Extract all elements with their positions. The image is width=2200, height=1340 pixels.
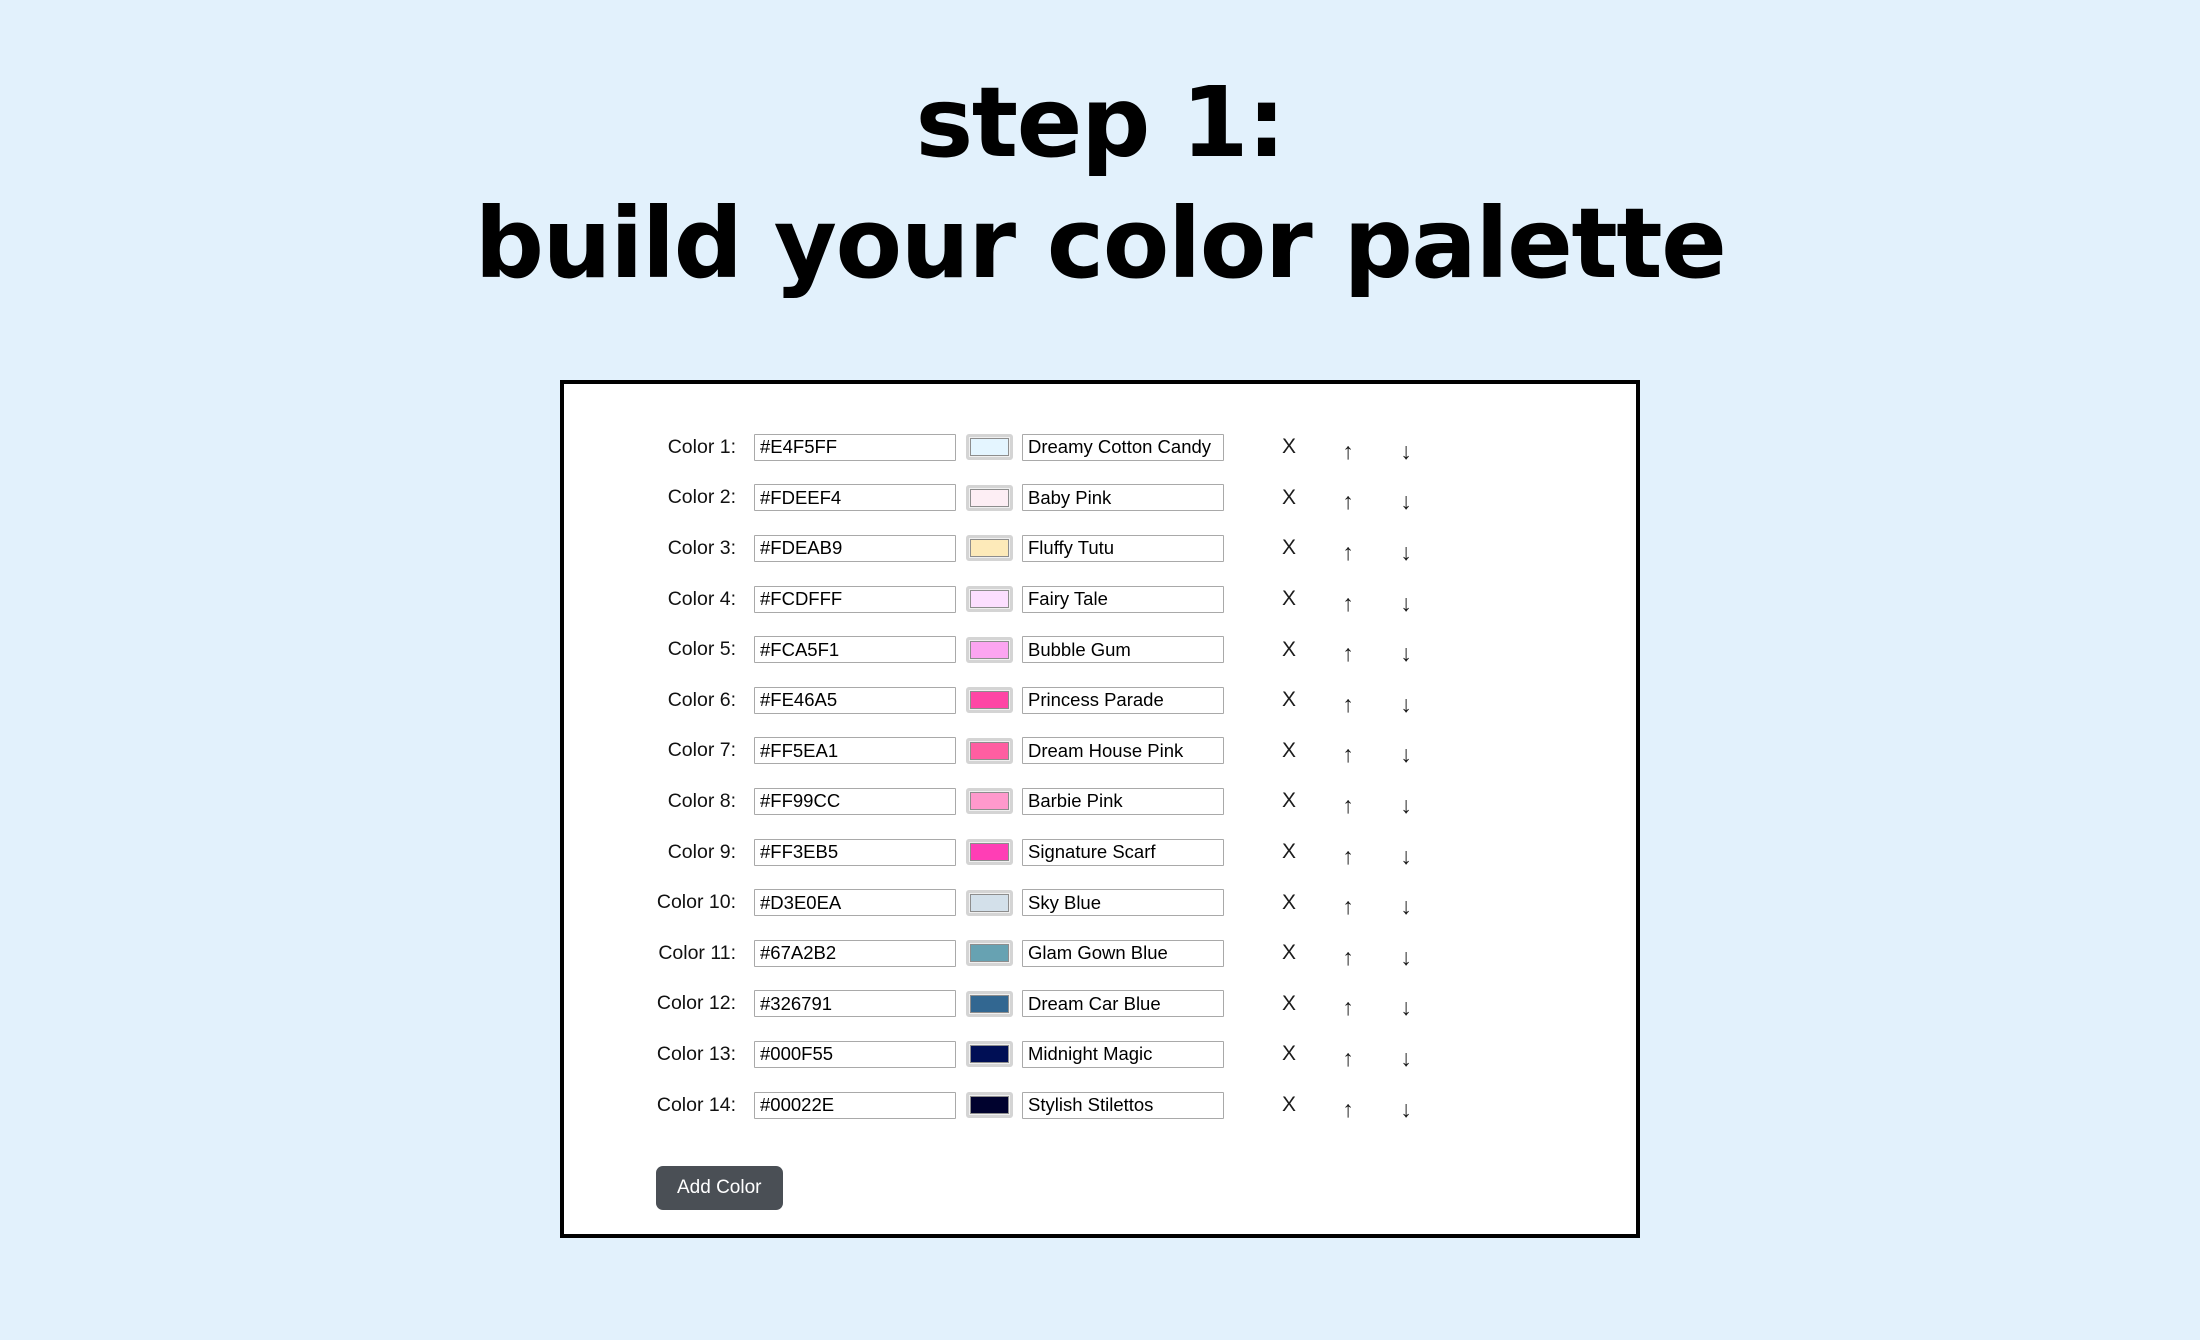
- color-swatch-fill: [970, 691, 1009, 709]
- move-color-down-icon[interactable]: ↓: [1378, 845, 1434, 868]
- move-color-down-icon[interactable]: ↓: [1378, 895, 1434, 918]
- move-color-down-icon[interactable]: ↓: [1378, 642, 1434, 665]
- color-picker-swatch[interactable]: [966, 890, 1013, 916]
- color-picker-swatch[interactable]: [966, 535, 1013, 561]
- move-color-up-icon[interactable]: ↑: [1320, 490, 1376, 513]
- color-name-input[interactable]: [1022, 1092, 1224, 1119]
- color-name-input[interactable]: [1022, 940, 1224, 967]
- color-swatch-slot: [956, 839, 1022, 865]
- delete-color-button[interactable]: X: [1260, 1093, 1318, 1117]
- color-swatch-slot: [956, 586, 1022, 612]
- table-row: Color 9:X↑↓: [564, 827, 1636, 878]
- delete-color-button[interactable]: X: [1260, 941, 1318, 965]
- move-color-up-icon[interactable]: ↑: [1320, 996, 1376, 1019]
- color-swatch-fill: [970, 489, 1009, 507]
- delete-color-button[interactable]: X: [1260, 891, 1318, 915]
- delete-color-button[interactable]: X: [1260, 840, 1318, 864]
- color-swatch-slot: [956, 434, 1022, 460]
- color-swatch-slot: [956, 940, 1022, 966]
- color-row-label: Color 10:: [564, 891, 754, 914]
- color-name-input[interactable]: [1022, 889, 1224, 916]
- color-row-label: Color 5:: [564, 638, 754, 661]
- color-swatch-slot: [956, 788, 1022, 814]
- color-swatch-fill: [970, 843, 1009, 861]
- page-title: step 1: build your color palette: [0, 0, 2200, 292]
- color-picker-swatch[interactable]: [966, 788, 1013, 814]
- hex-value-input[interactable]: [754, 788, 956, 815]
- color-swatch-fill: [970, 1045, 1009, 1063]
- color-swatch-fill: [970, 995, 1009, 1013]
- table-row: Color 7:X↑↓: [564, 726, 1636, 777]
- color-row-list: Color 1:X↑↓Color 2:X↑↓Color 3:X↑↓Color 4…: [564, 422, 1636, 1130]
- color-name-input[interactable]: [1022, 839, 1224, 866]
- color-row-label: Color 8:: [564, 790, 754, 813]
- color-swatch-fill: [970, 539, 1009, 557]
- color-row-label: Color 13:: [564, 1043, 754, 1066]
- hex-value-input[interactable]: [754, 535, 956, 562]
- move-color-up-icon[interactable]: ↑: [1320, 895, 1376, 918]
- add-color-button[interactable]: Add Color: [656, 1166, 783, 1210]
- color-picker-swatch[interactable]: [966, 434, 1013, 460]
- delete-color-button[interactable]: X: [1260, 435, 1318, 459]
- color-picker-swatch[interactable]: [966, 839, 1013, 865]
- hex-value-input[interactable]: [754, 1041, 956, 1068]
- color-row-label: Color 11:: [564, 942, 754, 965]
- color-name-input[interactable]: [1022, 535, 1224, 562]
- color-name-input[interactable]: [1022, 788, 1224, 815]
- move-color-up-icon[interactable]: ↑: [1320, 743, 1376, 766]
- color-row-label: Color 3:: [564, 537, 754, 560]
- color-swatch-fill: [970, 438, 1009, 456]
- color-name-input[interactable]: [1022, 1041, 1224, 1068]
- color-swatch-slot: [956, 535, 1022, 561]
- color-row-label: Color 9:: [564, 841, 754, 864]
- color-swatch-slot: [956, 637, 1022, 663]
- hex-value-input[interactable]: [754, 940, 956, 967]
- move-color-down-icon[interactable]: ↓: [1378, 996, 1434, 1019]
- move-color-down-icon[interactable]: ↓: [1378, 1098, 1434, 1121]
- table-row: Color 6:X↑↓: [564, 675, 1636, 726]
- color-row-label: Color 4:: [564, 588, 754, 611]
- delete-color-button[interactable]: X: [1260, 688, 1318, 712]
- color-swatch-slot: [956, 485, 1022, 511]
- table-row: Color 8:X↑↓: [564, 776, 1636, 827]
- delete-color-button[interactable]: X: [1260, 587, 1318, 611]
- table-row: Color 5:X↑↓: [564, 624, 1636, 675]
- delete-color-button[interactable]: X: [1260, 739, 1318, 763]
- color-picker-swatch[interactable]: [966, 1041, 1013, 1067]
- hex-value-input[interactable]: [754, 434, 956, 461]
- move-color-up-icon[interactable]: ↑: [1320, 1047, 1376, 1070]
- delete-color-button[interactable]: X: [1260, 1042, 1318, 1066]
- color-name-input[interactable]: [1022, 484, 1224, 511]
- hex-value-input[interactable]: [754, 484, 956, 511]
- move-color-down-icon[interactable]: ↓: [1378, 592, 1434, 615]
- color-row-label: Color 7:: [564, 739, 754, 762]
- color-swatch-fill: [970, 894, 1009, 912]
- color-swatch-fill: [970, 1096, 1009, 1114]
- table-row: Color 10:X↑↓: [564, 877, 1636, 928]
- color-name-input[interactable]: [1022, 586, 1224, 613]
- move-color-up-icon[interactable]: ↑: [1320, 642, 1376, 665]
- color-name-input[interactable]: [1022, 434, 1224, 461]
- color-swatch-fill: [970, 641, 1009, 659]
- table-row: Color 14:X↑↓: [564, 1080, 1636, 1131]
- hex-value-input[interactable]: [754, 889, 956, 916]
- table-row: Color 13:X↑↓: [564, 1029, 1636, 1080]
- delete-color-button[interactable]: X: [1260, 486, 1318, 510]
- move-color-up-icon[interactable]: ↑: [1320, 794, 1376, 817]
- move-color-down-icon[interactable]: ↓: [1378, 743, 1434, 766]
- move-color-up-icon[interactable]: ↑: [1320, 592, 1376, 615]
- color-name-input[interactable]: [1022, 636, 1224, 663]
- color-swatch-slot: [956, 991, 1022, 1017]
- color-picker-swatch[interactable]: [966, 991, 1013, 1017]
- table-row: Color 1:X↑↓: [564, 422, 1636, 473]
- color-picker-swatch[interactable]: [966, 485, 1013, 511]
- hex-value-input[interactable]: [754, 839, 956, 866]
- color-row-label: Color 6:: [564, 689, 754, 712]
- move-color-down-icon[interactable]: ↓: [1378, 946, 1434, 969]
- move-color-up-icon[interactable]: ↑: [1320, 440, 1376, 463]
- color-picker-swatch[interactable]: [966, 637, 1013, 663]
- color-picker-swatch[interactable]: [966, 1092, 1013, 1118]
- hex-value-input[interactable]: [754, 737, 956, 764]
- move-color-down-icon[interactable]: ↓: [1378, 440, 1434, 463]
- move-color-up-icon[interactable]: ↑: [1320, 693, 1376, 716]
- delete-color-button[interactable]: X: [1260, 789, 1318, 813]
- move-color-down-icon[interactable]: ↓: [1378, 794, 1434, 817]
- page-title-line-1: step 1:: [0, 74, 2200, 171]
- hex-value-input[interactable]: [754, 1092, 956, 1119]
- color-picker-swatch[interactable]: [966, 687, 1013, 713]
- color-swatch-fill: [970, 742, 1009, 760]
- table-row: Color 3:X↑↓: [564, 523, 1636, 574]
- delete-color-button[interactable]: X: [1260, 638, 1318, 662]
- hex-value-input[interactable]: [754, 636, 956, 663]
- color-swatch-fill: [970, 944, 1009, 962]
- table-row: Color 12:X↑↓: [564, 979, 1636, 1030]
- color-swatch-fill: [970, 590, 1009, 608]
- hex-value-input[interactable]: [754, 586, 956, 613]
- move-color-up-icon[interactable]: ↑: [1320, 1098, 1376, 1121]
- add-color-row: Add Color: [564, 1166, 1636, 1210]
- color-row-label: Color 2:: [564, 486, 754, 509]
- table-row: Color 11:X↑↓: [564, 928, 1636, 979]
- color-swatch-slot: [956, 738, 1022, 764]
- table-row: Color 4:X↑↓: [564, 574, 1636, 625]
- color-name-input[interactable]: [1022, 990, 1224, 1017]
- move-color-down-icon[interactable]: ↓: [1378, 490, 1434, 513]
- hex-value-input[interactable]: [754, 990, 956, 1017]
- color-row-label: Color 12:: [564, 992, 754, 1015]
- color-swatch-slot: [956, 687, 1022, 713]
- color-name-input[interactable]: [1022, 687, 1224, 714]
- color-picker-swatch[interactable]: [966, 586, 1013, 612]
- move-color-down-icon[interactable]: ↓: [1378, 1047, 1434, 1070]
- move-color-up-icon[interactable]: ↑: [1320, 845, 1376, 868]
- color-row-label: Color 14:: [564, 1094, 754, 1117]
- color-picker-swatch[interactable]: [966, 738, 1013, 764]
- move-color-down-icon[interactable]: ↓: [1378, 693, 1434, 716]
- move-color-up-icon[interactable]: ↑: [1320, 541, 1376, 564]
- color-palette-panel: Color 1:X↑↓Color 2:X↑↓Color 3:X↑↓Color 4…: [560, 380, 1640, 1238]
- delete-color-button[interactable]: X: [1260, 992, 1318, 1016]
- hex-value-input[interactable]: [754, 687, 956, 714]
- color-swatch-slot: [956, 1041, 1022, 1067]
- color-swatch-fill: [970, 792, 1009, 810]
- color-swatch-slot: [956, 1092, 1022, 1118]
- delete-color-button[interactable]: X: [1260, 536, 1318, 560]
- color-swatch-slot: [956, 890, 1022, 916]
- color-name-input[interactable]: [1022, 737, 1224, 764]
- color-row-label: Color 1:: [564, 436, 754, 459]
- table-row: Color 2:X↑↓: [564, 473, 1636, 524]
- page-title-line-2: build your color palette: [0, 195, 2200, 292]
- move-color-down-icon[interactable]: ↓: [1378, 541, 1434, 564]
- color-picker-swatch[interactable]: [966, 940, 1013, 966]
- move-color-up-icon[interactable]: ↑: [1320, 946, 1376, 969]
